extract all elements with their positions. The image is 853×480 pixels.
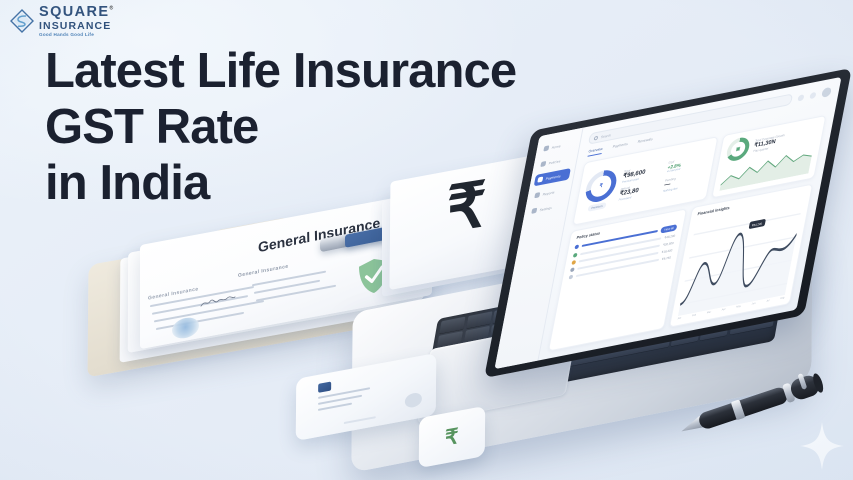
- building-icon: ▣: [725, 136, 751, 163]
- brand-wordmark: SQUARE® INSURANCE Good Hands Good Life: [39, 4, 113, 38]
- sidebar-item-label: Payments: [545, 173, 561, 180]
- x-tick: Feb: [692, 313, 697, 317]
- x-tick: Apr: [721, 308, 725, 312]
- avatar[interactable]: [821, 87, 832, 98]
- status-dot: [570, 267, 575, 272]
- x-tick: Jun: [751, 302, 755, 306]
- x-tick: Aug: [780, 296, 785, 300]
- four-point-sparkle: [798, 420, 846, 472]
- card-slot: [344, 416, 376, 424]
- x-tick: Jul: [766, 299, 770, 303]
- status-dot: [574, 244, 579, 249]
- tab-renewals[interactable]: Renewals: [637, 137, 653, 147]
- status-amount: ₹18,400: [661, 248, 672, 254]
- card-icon: [537, 176, 543, 182]
- stat-grid: Total ₹98,600 Premium paid GST +2.8% vs …: [618, 153, 708, 201]
- registered-mark: ®: [109, 6, 113, 12]
- donut-center-label: ₹: [583, 167, 619, 204]
- rupee-symbol: ₹: [446, 174, 487, 242]
- document-subtitle: General Insurance: [238, 264, 288, 279]
- x-tick: Jan: [677, 316, 681, 320]
- sidebar-item-label: Reports: [542, 190, 555, 196]
- status-amount: ₹48,200: [664, 234, 675, 240]
- view-all-chip[interactable]: View all: [661, 224, 678, 233]
- sidebar-item-label: Settings: [539, 205, 552, 212]
- gear-icon: [531, 208, 537, 214]
- sidebar-item-settings[interactable]: Settings: [528, 199, 565, 217]
- sidebar-item-label: Home: [551, 143, 561, 149]
- rupee-tile-glyph: ₹: [445, 423, 459, 450]
- status-dot: [569, 275, 574, 280]
- status-dot: [573, 253, 578, 258]
- search-placeholder: Search: [601, 133, 612, 139]
- search-icon: [594, 135, 599, 140]
- coverage-donut-chart: ▣: [725, 136, 751, 163]
- status-dot: [571, 260, 576, 265]
- square-diamond-logo-icon: [9, 8, 35, 34]
- home-icon: [543, 145, 549, 151]
- x-tick: Mar: [707, 310, 712, 314]
- premium-donut-chart: ₹: [583, 167, 619, 204]
- document-subtitle-side: General Insurance: [148, 286, 198, 301]
- rupee-tile: ₹: [419, 406, 485, 468]
- donut-badge: Premium: [588, 202, 606, 212]
- brand-line-1: SQUARE: [39, 5, 109, 20]
- card-chip-icon: [318, 381, 331, 392]
- bell-icon[interactable]: [809, 91, 816, 98]
- brand-line-2: INSURANCE: [39, 21, 113, 32]
- brand-tagline: Good Hands Good Life: [39, 33, 113, 38]
- status-amount: ₹9,750: [661, 255, 671, 261]
- status-amount: ₹30,500: [663, 241, 674, 247]
- hero-banner: SQUARE® INSURANCE Good Hands Good Life L…: [0, 0, 853, 480]
- card-badge: [405, 392, 422, 409]
- x-tick: May: [736, 305, 741, 309]
- refresh-icon[interactable]: [797, 94, 804, 101]
- tab-payments[interactable]: Payments: [612, 142, 628, 152]
- policy-status-card: Policy status View all ₹48,200: [548, 208, 687, 351]
- list-icon: [540, 161, 546, 167]
- sidebar-item-label: Policies: [548, 159, 561, 165]
- brand-logo[interactable]: SQUARE® INSURANCE Good Hands Good Life: [9, 4, 113, 38]
- chart-icon: [534, 192, 540, 198]
- financial-insights-card: Financial insights ₹64,200: [669, 183, 813, 327]
- tab-overview[interactable]: Overview: [588, 147, 604, 157]
